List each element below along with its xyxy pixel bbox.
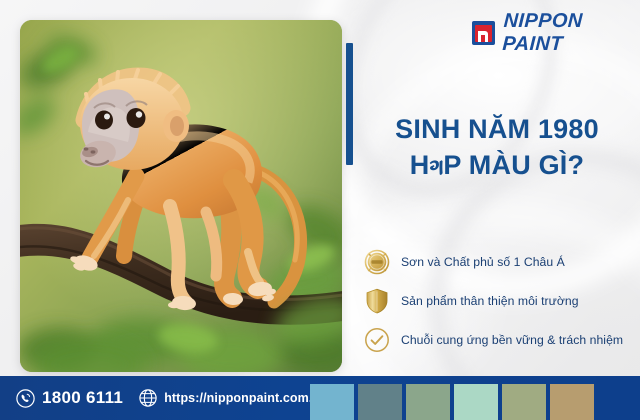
- brand-logo-text: NIPPON PAINT: [501, 10, 640, 56]
- color-swatch-strip: [310, 376, 640, 420]
- swatch-tan-gold[interactable]: [550, 384, 594, 420]
- promo-banner: NIPPON PAINT: [0, 0, 640, 420]
- list-item: Chuỗi cung ứng bền vững & trách nhiệm: [362, 320, 634, 359]
- feature-label: Chuỗi cung ứng bền vững & trách nhiệm: [401, 333, 623, 347]
- feature-list: Sơn và Chất phủ số 1 Châu Á Sản phẩm thâ: [362, 242, 634, 359]
- globe-icon: [139, 389, 157, 407]
- swatch-sky-blue[interactable]: [310, 384, 354, 420]
- list-item: Sản phẩm thân thiện môi trường: [362, 281, 634, 320]
- swatch-olive-sage[interactable]: [502, 384, 546, 420]
- swatch-slate-teal[interactable]: [358, 384, 402, 420]
- check-circle-icon: [362, 325, 392, 355]
- list-item: Sơn và Chất phủ số 1 Châu Á: [362, 242, 634, 281]
- phone-circle-icon: [16, 389, 35, 408]
- medal-seal-icon: [362, 247, 392, 277]
- swatch-sage-green[interactable]: [406, 384, 450, 420]
- feature-label: Sản phẩm thân thiện môi trường: [401, 294, 579, 308]
- headline-line-1: SINH NĂM 1980: [362, 112, 632, 148]
- brand-logo[interactable]: NIPPON PAINT: [472, 10, 640, 56]
- phone-contact[interactable]: 1800 6111: [16, 388, 123, 408]
- title-accent-bar: [346, 43, 353, 165]
- swatch-mint[interactable]: [454, 384, 498, 420]
- nippon-paint-logo-mark: [472, 21, 495, 45]
- phone-number: 1800 6111: [42, 388, 123, 408]
- swatch-brand-blue[interactable]: [596, 376, 640, 420]
- hero-photo-monkey: [20, 20, 342, 372]
- feature-label: Sơn và Chất phủ số 1 Châu Á: [401, 255, 565, 269]
- shield-icon: [362, 286, 392, 316]
- page-title: SINH NĂM 1980 HᤆP MÀU GÌ?: [362, 112, 632, 183]
- headline-line-2: HᤆP MÀU GÌ?: [362, 148, 632, 184]
